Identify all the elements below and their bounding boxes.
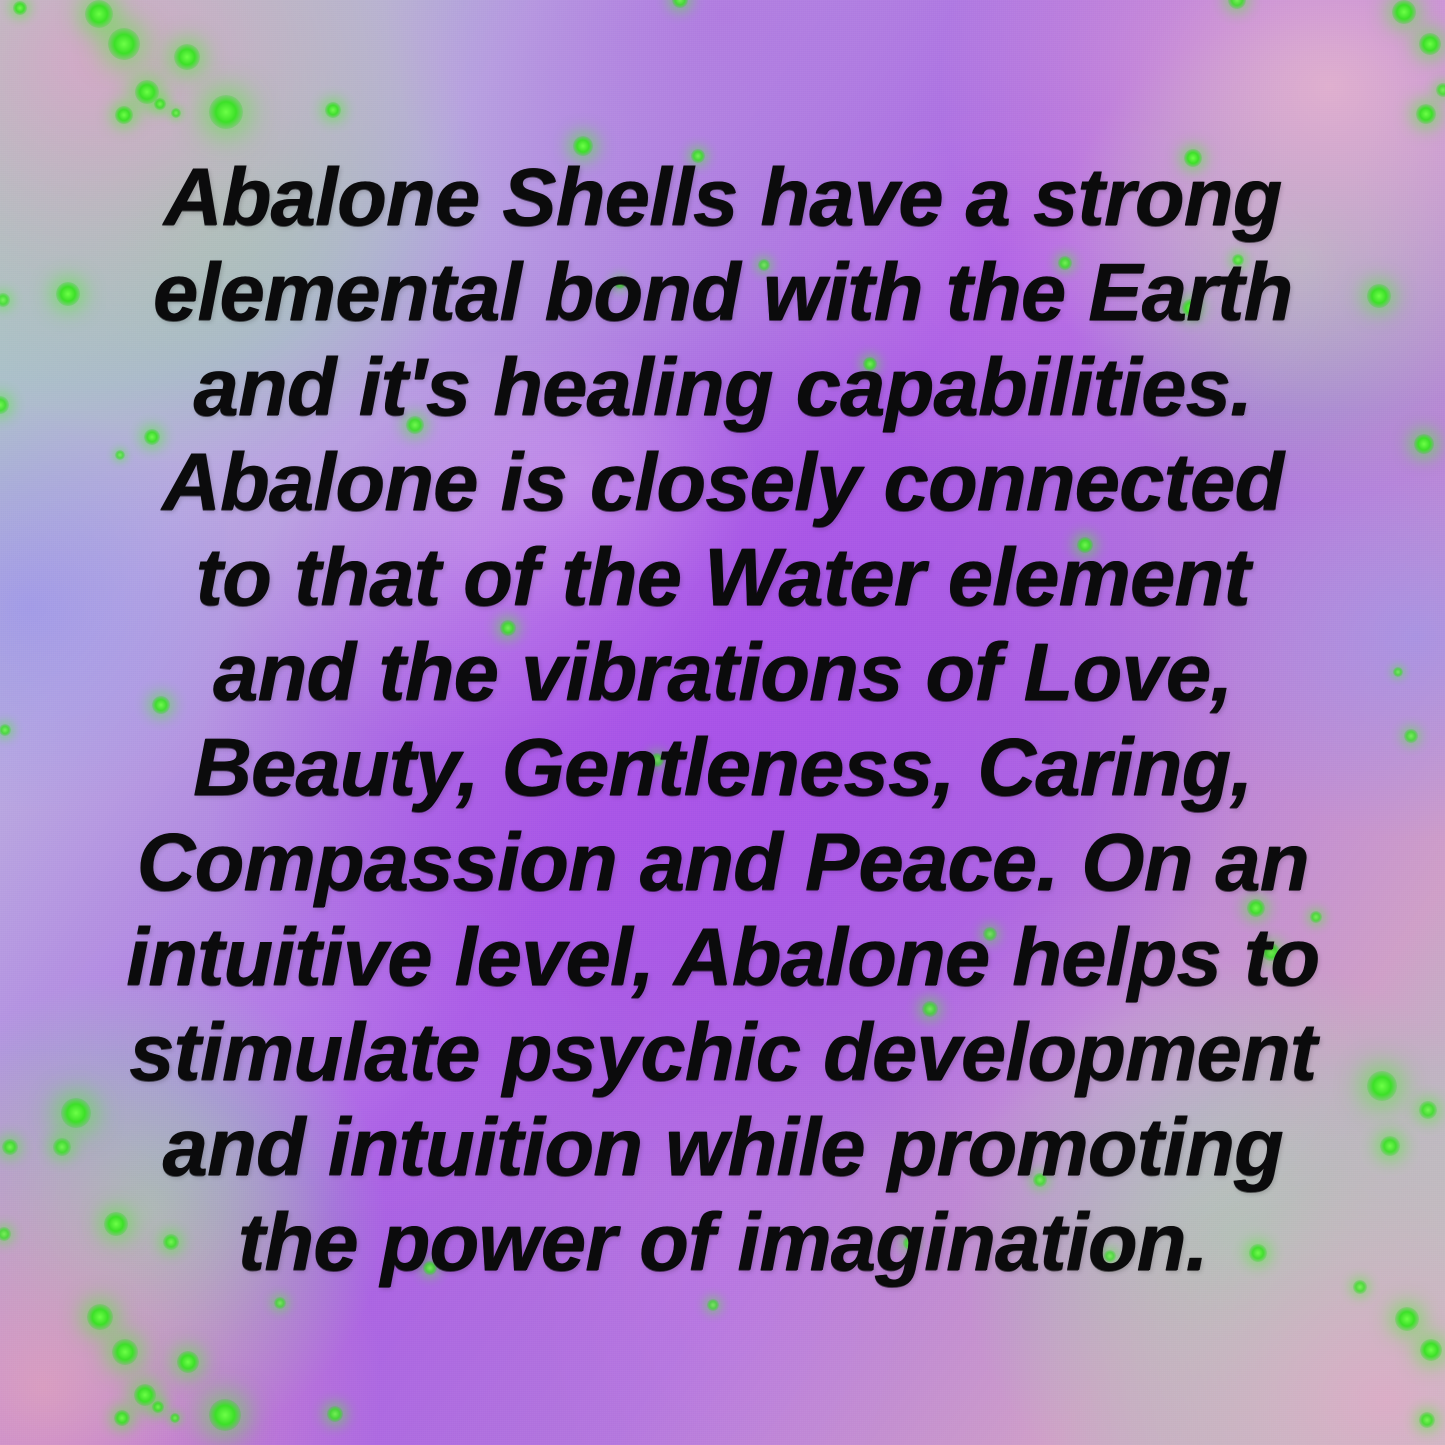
green-glow-dot: [112, 1339, 138, 1365]
quote-line: and intuition while promoting: [69, 1100, 1375, 1195]
green-glow-dot: [154, 98, 166, 110]
green-glow-dot: [1404, 729, 1418, 743]
quote-line: elemental bond with the Earth: [69, 245, 1375, 340]
green-glow-dot: [135, 80, 159, 104]
green-glow-dot: [672, 0, 688, 8]
green-glow-dot: [1419, 1101, 1437, 1119]
green-glow-dot: [1395, 1307, 1419, 1331]
quote-graphic-canvas: Abalone Shells have a strong elemental b…: [0, 0, 1445, 1445]
green-glow-dot: [1393, 667, 1403, 677]
green-glow-dot: [108, 28, 140, 60]
green-glow-dot: [1419, 1412, 1435, 1428]
green-glow-dot: [13, 1, 27, 15]
quote-line: stimulate psychic development: [69, 1005, 1375, 1100]
green-glow-dot: [170, 1413, 180, 1423]
green-glow-dot: [1392, 0, 1416, 24]
green-glow-dot: [152, 1401, 164, 1413]
green-glow-dot: [2, 1139, 18, 1155]
green-glow-dot: [274, 1297, 286, 1309]
green-glow-dot: [174, 44, 200, 70]
quote-line: Beauty, Gentleness, Caring,: [69, 720, 1375, 815]
green-glow-dot: [0, 293, 10, 307]
green-glow-dot: [115, 106, 133, 124]
green-glow-dot: [209, 1399, 241, 1431]
green-glow-dot: [171, 108, 181, 118]
quote-line: Abalone Shells have a strong: [69, 150, 1375, 245]
green-glow-dot: [1416, 104, 1436, 124]
green-glow-dot: [85, 0, 113, 28]
green-glow-dot: [1436, 83, 1445, 97]
quote-line: the power of imagination.: [69, 1195, 1375, 1290]
green-glow-dot: [1420, 1339, 1442, 1361]
green-glow-dot: [0, 724, 11, 736]
quote-line: intuitive level, Abalone helps to: [69, 910, 1375, 1005]
green-glow-dot: [114, 1410, 130, 1426]
quote-line: and the vibrations of Love,: [69, 625, 1375, 720]
green-glow-dot: [325, 102, 341, 118]
quote-line: and it's healing capabilities.: [69, 340, 1375, 435]
green-glow-dot: [707, 1299, 719, 1311]
quote-line: Abalone is closely connected: [69, 435, 1375, 530]
green-glow-dot: [209, 95, 243, 129]
green-glow-dot: [327, 1406, 343, 1422]
green-glow-dot: [0, 396, 9, 414]
green-glow-dot: [177, 1351, 199, 1373]
green-glow-dot: [1419, 33, 1441, 55]
green-glow-dot: [0, 1227, 11, 1241]
green-glow-dot: [1228, 0, 1246, 9]
green-glow-dot: [87, 1304, 113, 1330]
green-glow-dot: [134, 1384, 156, 1406]
quote-line: to that of the Water element: [69, 530, 1375, 625]
quote-text-block: Abalone Shells have a strong elemental b…: [51, 150, 1395, 1290]
quote-line: Compassion and Peace. On an: [69, 815, 1375, 910]
green-glow-dot: [1414, 434, 1434, 454]
